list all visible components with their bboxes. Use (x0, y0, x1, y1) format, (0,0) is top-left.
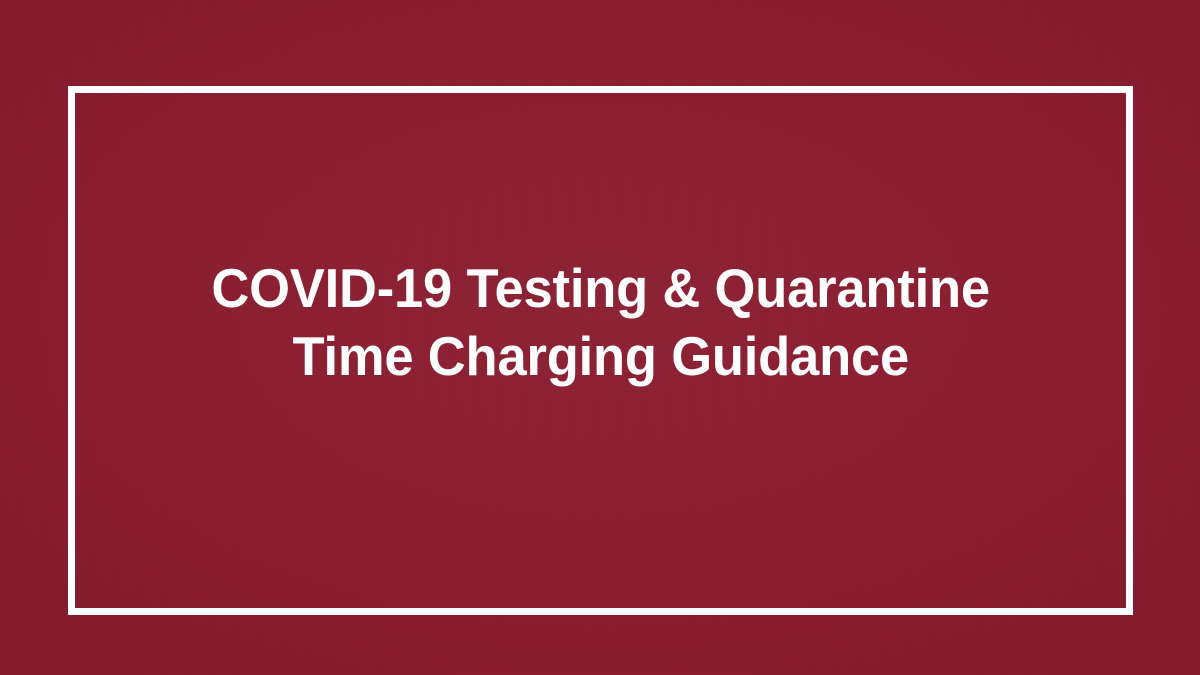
title-block: COVID-19 Testing & Quarantine Time Charg… (68, 86, 1133, 615)
page-title-line-1: COVID-19 Testing & Quarantine (211, 254, 990, 322)
page-title-line-2: Time Charging Guidance (292, 322, 908, 390)
title-slide: COVID-19 Testing & Quarantine Time Charg… (0, 0, 1200, 675)
